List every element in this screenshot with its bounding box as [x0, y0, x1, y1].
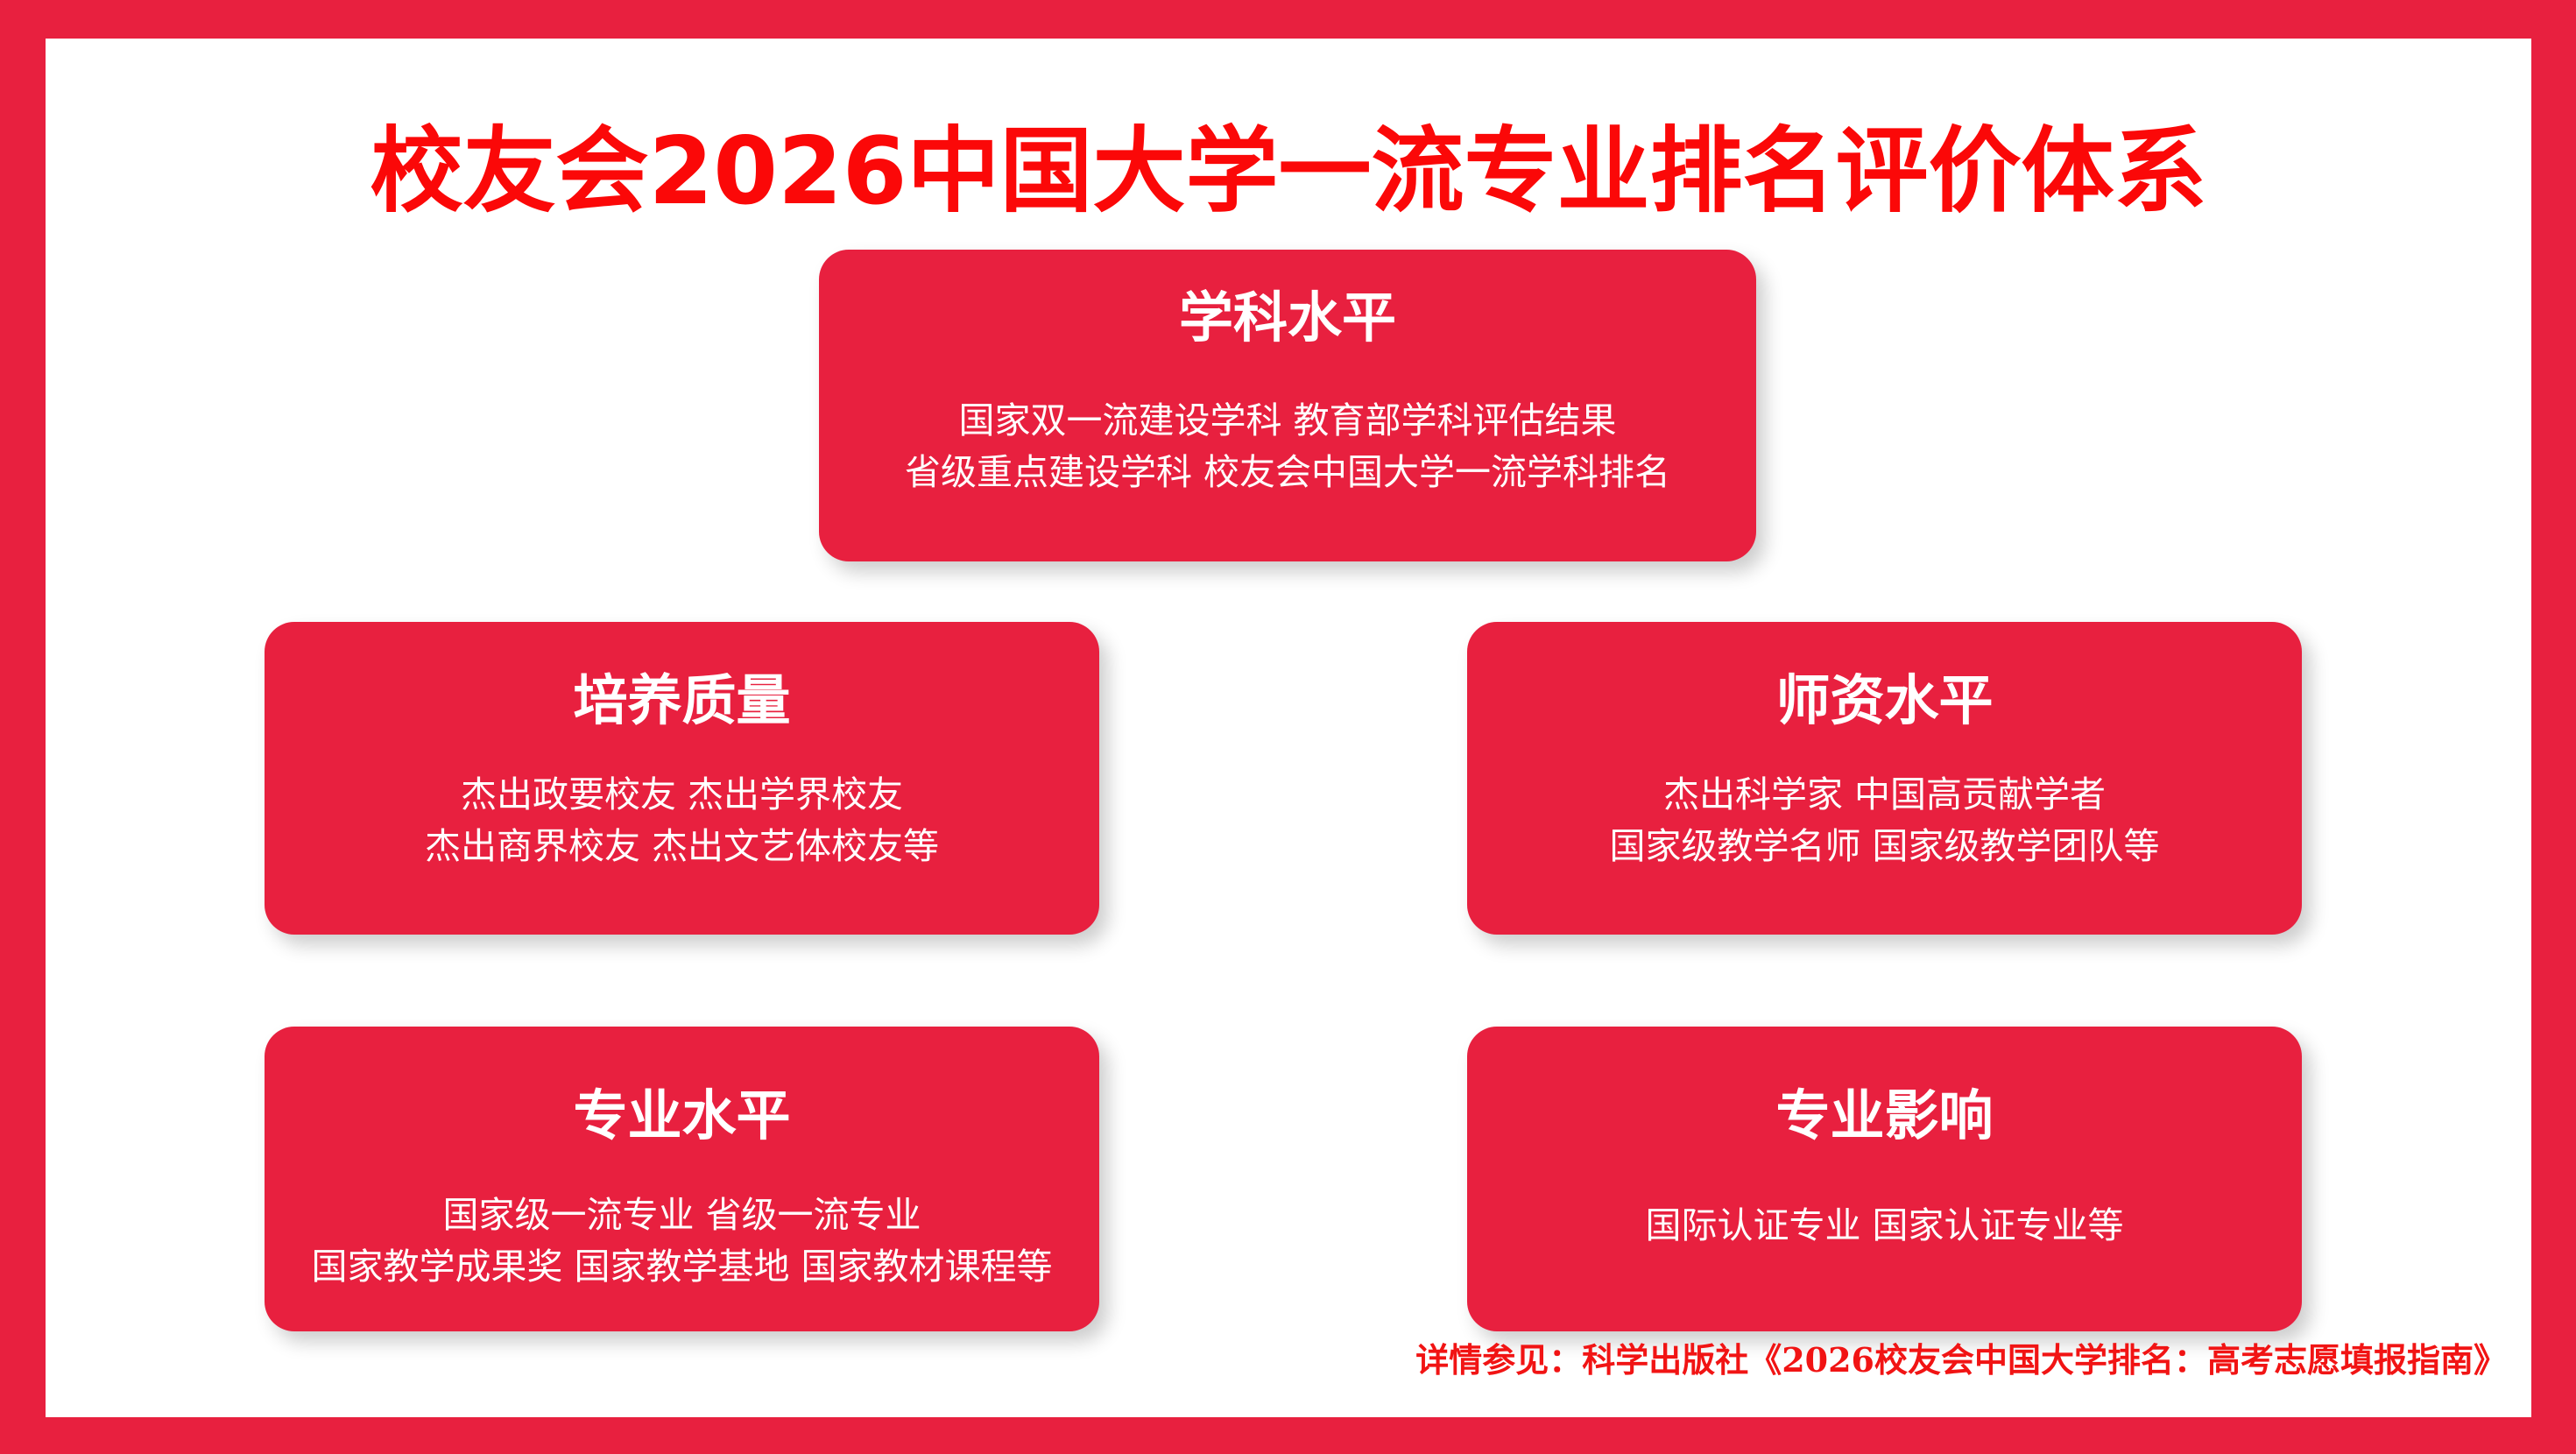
- card-quality-line-2: 杰出商界校友 杰出文艺体校友等: [265, 821, 1099, 872]
- card-discipline-title: 学科水平: [819, 288, 1756, 348]
- card-faculty-lines: 杰出科学家 中国高贡献学者 国家级教学名师 国家级教学团队等: [1467, 769, 2302, 873]
- card-faculty-line-2: 国家级教学名师 国家级教学团队等: [1467, 821, 2302, 872]
- card-major-impact-title: 专业影响: [1467, 1086, 2302, 1146]
- card-major-impact-lines: 国际认证专业 国家认证专业等: [1467, 1200, 2302, 1252]
- card-discipline[interactable]: 学科水平 国家双一流建设学科 教育部学科评估结果 省级重点建设学科 校友会中国大…: [819, 250, 1756, 561]
- card-discipline-lines: 国家双一流建设学科 教育部学科评估结果 省级重点建设学科 校友会中国大学一流学科…: [819, 395, 1756, 499]
- card-major-level-line-1: 国家级一流专业 省级一流专业: [265, 1189, 1099, 1241]
- card-major-level-title: 专业水平: [265, 1086, 1099, 1146]
- card-faculty-line-1: 杰出科学家 中国高贡献学者: [1467, 769, 2302, 821]
- card-major-level[interactable]: 专业水平 国家级一流专业 省级一流专业 国家教学成果奖 国家教学基地 国家教材课…: [265, 1027, 1099, 1331]
- card-quality[interactable]: 培养质量 杰出政要校友 杰出学界校友 杰出商界校友 杰出文艺体校友等: [265, 622, 1099, 935]
- poster-frame: 校友会2026中国大学一流专业排名评价体系 学科水平 国家双一流建设学科 教育部…: [0, 0, 2576, 1454]
- card-major-level-line-2: 国家教学成果奖 国家教学基地 国家教材课程等: [265, 1241, 1099, 1293]
- card-quality-line-1: 杰出政要校友 杰出学界校友: [265, 769, 1099, 821]
- source-footnote: 详情参见：科学出版社《2026校友会中国大学排名：高考志愿填报指南》: [1415, 1333, 2507, 1381]
- page-title: 校友会2026中国大学一流专业排名评价体系: [46, 123, 2531, 220]
- card-quality-lines: 杰出政要校友 杰出学界校友 杰出商界校友 杰出文艺体校友等: [265, 769, 1099, 873]
- card-faculty[interactable]: 师资水平 杰出科学家 中国高贡献学者 国家级教学名师 国家级教学团队等: [1467, 622, 2302, 935]
- card-discipline-line-2: 省级重点建设学科 校友会中国大学一流学科排名: [819, 447, 1756, 498]
- card-quality-title: 培养质量: [265, 671, 1099, 731]
- card-major-impact[interactable]: 专业影响 国际认证专业 国家认证专业等: [1467, 1027, 2302, 1331]
- card-discipline-line-1: 国家双一流建设学科 教育部学科评估结果: [819, 395, 1756, 447]
- card-major-impact-line-1: 国际认证专业 国家认证专业等: [1467, 1200, 2302, 1252]
- poster-canvas: 校友会2026中国大学一流专业排名评价体系 学科水平 国家双一流建设学科 教育部…: [46, 39, 2531, 1417]
- card-faculty-title: 师资水平: [1467, 671, 2302, 731]
- card-major-level-lines: 国家级一流专业 省级一流专业 国家教学成果奖 国家教学基地 国家教材课程等: [265, 1189, 1099, 1294]
